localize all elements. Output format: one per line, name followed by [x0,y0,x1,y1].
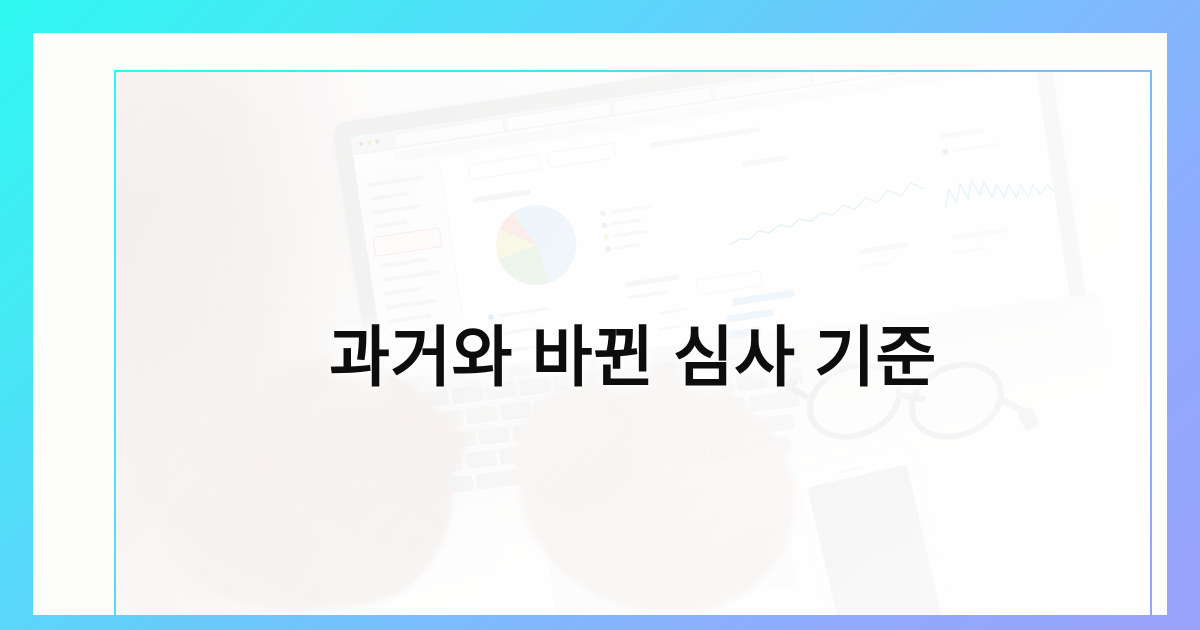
bar-row [732,290,794,306]
widget-heading [858,242,908,254]
keyboard-key [451,385,483,405]
widget-heading [742,155,788,167]
pie-chart [491,200,582,291]
legend-label [952,143,998,153]
sidebar-item [373,220,407,229]
sidebar-item [371,204,421,215]
keyboard-key [485,381,517,401]
legend-label [614,243,640,250]
list-item-label [498,307,550,318]
legend-label [609,204,653,213]
keyboard-key [465,450,497,470]
sidebar-item-active [372,227,442,257]
sidebar-item [379,257,427,268]
bar-row-label [658,324,682,331]
sidebar-item [388,313,432,323]
sidebar-item [384,287,422,297]
photo-frame-hairline: 과거와 바뀐 심사 기준 [114,70,1152,615]
list-item-label [503,343,549,353]
legend-swatch [604,234,610,240]
filter-dropdown [468,154,542,180]
metric-value [861,261,891,268]
keyboard-key [721,352,753,372]
list-bullet-icon [493,350,499,356]
legend-swatch [602,222,608,228]
keyboard-key [755,346,801,367]
thumbnail-card: 과거와 바뀐 심사 기준 [0,0,1200,630]
filter-dropdown [547,142,617,168]
window-close-dot-icon [359,142,364,147]
sidebar-item [381,270,439,283]
window-minimize-dot-icon [367,140,372,145]
legend-swatch [600,211,606,217]
sidebar-item [369,191,409,201]
bar-row [727,309,774,323]
bar-row-label [659,307,687,314]
list-bullet-icon [491,332,497,338]
keyboard-key [736,372,768,392]
widget-heading [940,128,984,139]
metric-value [954,246,988,254]
background-photo [116,72,1150,615]
widget-heading [473,189,531,203]
sidebar-item [386,298,438,310]
sidebar-item [367,175,423,187]
list-item-label [501,326,541,335]
legend-swatch [605,246,611,252]
list-bullet-icon [488,314,494,320]
section-heading [650,127,760,148]
bar-filter [695,270,763,296]
keyboard-key [687,356,719,376]
legend-label [611,218,641,225]
legend-label [613,230,647,238]
legend-swatch [943,149,949,155]
keyboard-key [466,406,498,426]
widget-heading [625,274,679,287]
keyboard-key [478,426,510,446]
bar-row-label [627,290,667,299]
inner-mat: 과거와 바뀐 심사 기준 [33,33,1167,615]
sidebar-item [390,325,446,337]
keyboard-key [519,377,551,397]
window-maximize-dot-icon [375,139,380,144]
widget-heading [951,227,1007,240]
